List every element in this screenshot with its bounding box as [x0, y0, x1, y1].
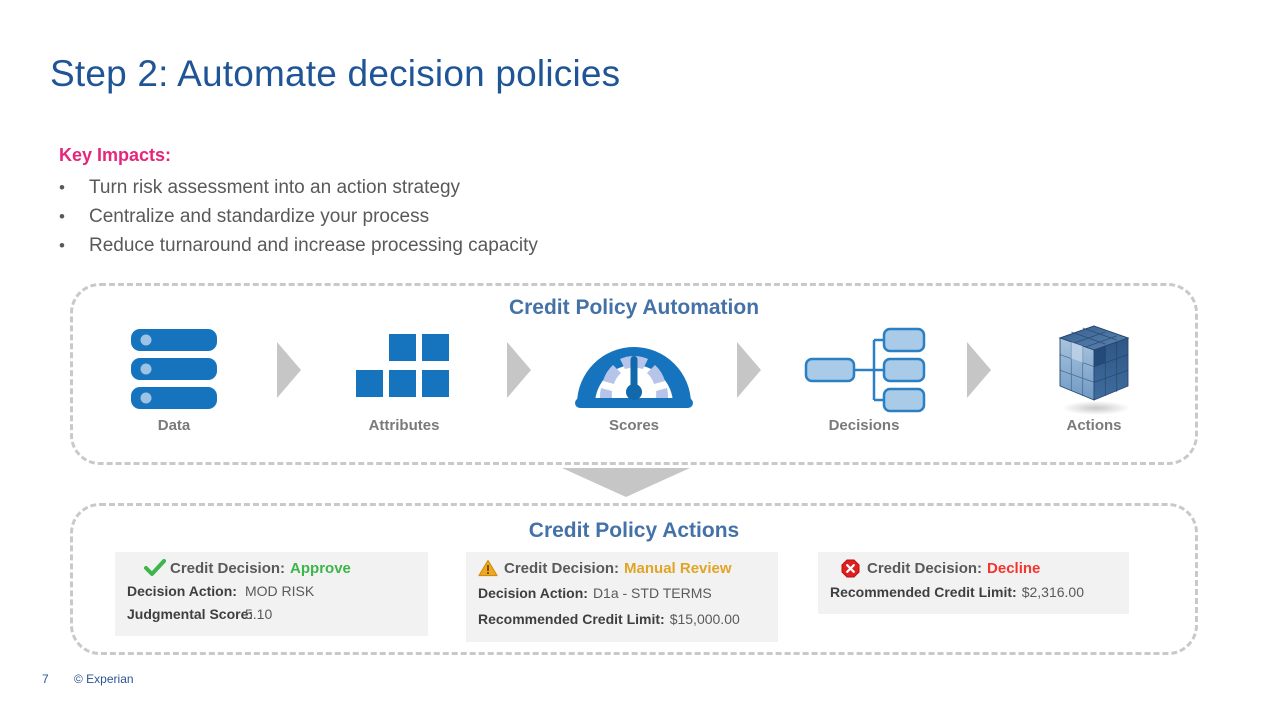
card-row-value: $2,316.00 [1022, 581, 1084, 604]
list-item-label: Reduce turnaround and increase processin… [89, 231, 819, 260]
flow-step-label: Attributes [369, 417, 440, 434]
card-row-key: Recommended Credit Limit: [830, 581, 1017, 604]
card-row-value: D1a - STD TERMS [593, 580, 712, 606]
chevron-right-icon [729, 324, 769, 416]
flow-step-data: Data [99, 324, 249, 434]
gauge-icon [569, 324, 699, 416]
card-row-key: Decision Action: [478, 580, 588, 606]
flow-step-decisions: Decisions [789, 324, 939, 434]
card-header: Credit Decision: Manual Review [478, 559, 766, 577]
flow-step-label: Scores [609, 417, 659, 434]
slide-canvas: Step 2: Automate decision policies Key I… [0, 0, 1280, 720]
database-icon [124, 324, 224, 416]
credit-policy-automation-panel: Credit Policy Automation Data [70, 283, 1198, 465]
actions-panel-title: Credit Policy Actions [73, 519, 1195, 543]
cube-icon [1042, 324, 1146, 416]
slide-footer: 7 © Experian [42, 672, 134, 686]
warning-triangle-icon [478, 559, 504, 577]
action-card-approve: Credit Decision: Approve Decision Action… [115, 552, 428, 636]
list-item: • Turn risk assessment into an action st… [59, 173, 819, 202]
action-card-decline: Credit Decision: Decline Recommended Cre… [818, 552, 1129, 614]
card-header-label: Credit Decision: [504, 560, 619, 577]
flow-step-attributes: Attributes [329, 324, 479, 434]
error-octagon-icon [841, 559, 867, 578]
grid-squares-icon [356, 324, 452, 416]
page-title: Step 2: Automate decision policies [50, 53, 620, 95]
card-row-key: Recommended Credit Limit: [478, 606, 665, 632]
card-row-value: 5.10 [245, 603, 272, 626]
chevron-right-icon [269, 324, 309, 416]
action-card-manual-review: Credit Decision: Manual Review Decision … [466, 552, 778, 642]
flow-step-label: Actions [1066, 417, 1121, 434]
key-impacts-list: • Turn risk assessment into an action st… [59, 173, 819, 260]
chevron-right-icon [499, 324, 539, 416]
flow-panel-title: Credit Policy Automation [73, 296, 1195, 320]
flow-step-label: Data [158, 417, 191, 434]
card-row-key: Decision Action: [127, 580, 245, 603]
list-item: • Reduce turnaround and increase process… [59, 231, 819, 260]
key-impacts-heading: Key Impacts: [59, 145, 171, 166]
status-badge: Approve [290, 560, 351, 577]
bullet-marker-icon: • [59, 231, 89, 260]
card-header: Credit Decision: Approve [127, 559, 416, 577]
page-number: 7 [42, 672, 74, 686]
flow-step-label: Decisions [829, 417, 900, 434]
credit-policy-actions-panel: Credit Policy Actions Credit Decision: A… [70, 503, 1198, 655]
flow-step-scores: Scores [559, 324, 709, 434]
status-badge: Manual Review [624, 560, 732, 577]
chevron-right-icon [959, 324, 999, 416]
card-row: Recommended Credit Limit: $2,316.00 [830, 581, 1117, 604]
flow-step-actions: Actions [1019, 324, 1169, 434]
status-badge: Decline [987, 560, 1040, 577]
card-row: Decision Action: MOD RISK [127, 580, 416, 603]
decision-tree-icon [802, 324, 926, 416]
arrow-down-icon [562, 466, 690, 498]
list-item-label: Centralize and standardize your process [89, 202, 819, 231]
process-flow-row: Data Attributes [73, 324, 1195, 454]
card-row-value: $15,000.00 [670, 606, 740, 632]
card-header-label: Credit Decision: [170, 560, 285, 577]
card-header-label: Credit Decision: [867, 560, 982, 577]
copyright-label: © Experian [74, 672, 134, 686]
card-header: Credit Decision: Decline [830, 559, 1117, 578]
check-mark-icon [144, 559, 170, 577]
card-row: Judgmental Score: 5.10 [127, 603, 416, 626]
card-row: Decision Action: D1a - STD TERMS [478, 580, 766, 606]
card-row: Recommended Credit Limit: $15,000.00 [478, 606, 766, 632]
card-row-value: MOD RISK [245, 580, 314, 603]
card-row-key: Judgmental Score: [127, 603, 245, 626]
list-item: • Centralize and standardize your proces… [59, 202, 819, 231]
action-cards-row: Credit Decision: Approve Decision Action… [73, 552, 1195, 652]
bullet-marker-icon: • [59, 173, 89, 202]
bullet-marker-icon: • [59, 202, 89, 231]
list-item-label: Turn risk assessment into an action stra… [89, 173, 819, 202]
